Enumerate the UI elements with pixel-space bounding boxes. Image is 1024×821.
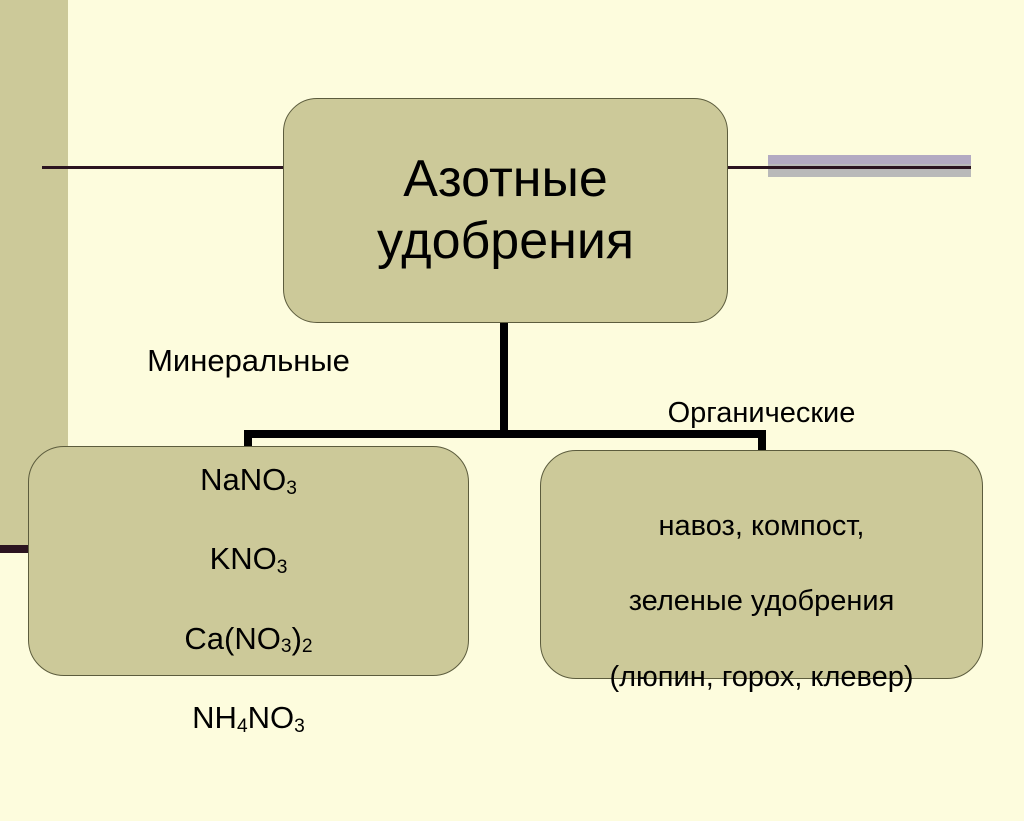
formula-subscript: 3: [294, 716, 305, 737]
list-item: KNO3: [147, 539, 350, 579]
formula-subscript: 3: [286, 478, 297, 499]
formula-subscript: 4: [237, 716, 248, 737]
list-item: зеленые удобрения: [609, 583, 913, 621]
node-title-nitrogen-fertilizers[interactable]: Азотные удобрения: [283, 98, 728, 323]
connector-vertical-stem: [500, 322, 508, 437]
node-mineral-content: Минеральные NaNO3 KNO3 Ca(NO3)2 NH4NO3: [135, 301, 362, 821]
organic-item-list: навоз, компост, зеленые удобрения (люпин…: [609, 470, 913, 734]
formula-base: Ca(NO: [184, 621, 280, 656]
list-item: навоз, компост,: [609, 508, 913, 546]
formula-base: NH: [192, 700, 237, 735]
node-organic-heading: Органические: [609, 395, 913, 433]
formula-subscript: 3: [277, 557, 288, 578]
node-organic-fertilizers[interactable]: Органические навоз, компост, зеленые удо…: [540, 450, 983, 679]
node-title-text: Азотные удобрения: [365, 149, 646, 272]
formula-base: NO: [248, 700, 295, 735]
node-organic-content: Органические навоз, компост, зеленые удо…: [597, 357, 925, 772]
left-accent-stub: [0, 545, 29, 553]
list-item: (люпин, горох, клевер): [609, 659, 913, 697]
list-item: NaNO3: [147, 460, 350, 500]
right-accent-bar-highlight: [768, 155, 971, 164]
slide-canvas: Азотные удобрения Минеральные NaNO3 KNO3…: [0, 0, 1024, 768]
left-horizontal-rule: [42, 166, 287, 169]
formula-base: NaNO: [200, 462, 286, 497]
list-item: NH4NO3: [147, 698, 350, 738]
mineral-formula-list: NaNO3 KNO3 Ca(NO3)2 NH4NO3: [147, 420, 350, 777]
node-mineral-heading: Минеральные: [147, 341, 350, 381]
right-horizontal-rule: [723, 166, 971, 169]
list-item: Ca(NO3)2: [147, 619, 350, 659]
formula-subscript: 3: [281, 636, 292, 657]
formula-base: ): [292, 621, 302, 656]
formula-base: KNO: [210, 541, 277, 576]
formula-subscript: 2: [302, 636, 313, 657]
node-mineral-fertilizers[interactable]: Минеральные NaNO3 KNO3 Ca(NO3)2 NH4NO3: [28, 446, 469, 676]
